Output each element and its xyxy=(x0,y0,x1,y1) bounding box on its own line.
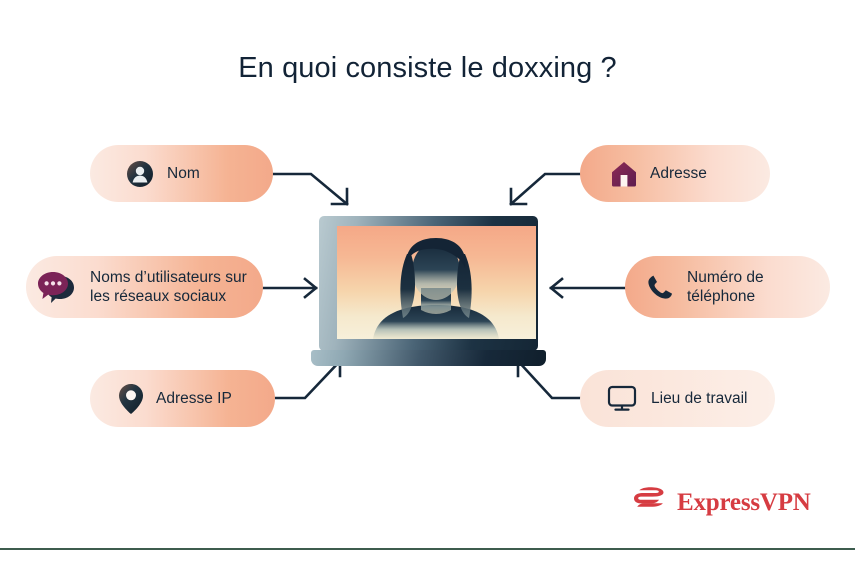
laptop-base xyxy=(311,350,546,366)
info-pill-label: Numéro de téléphone xyxy=(687,268,764,306)
arrow-usernames xyxy=(263,279,316,297)
arrow-work xyxy=(518,361,580,398)
arrow-ip xyxy=(276,361,340,398)
monitor-icon xyxy=(607,385,637,413)
infographic-canvas: En quoi consiste le doxxing ? xyxy=(0,0,855,561)
laptop-illustration xyxy=(311,216,546,366)
phone-icon xyxy=(645,272,675,302)
info-pill-adresse[interactable]: Adresse xyxy=(580,145,770,202)
arrow-adresse xyxy=(511,174,580,204)
expressvpn-logo: ExpressVPN xyxy=(634,484,811,521)
info-pill-usernames[interactable]: Noms d’utilisateurs sur les réseaux soci… xyxy=(26,256,263,318)
info-pill-label: Noms d’utilisateurs sur les réseaux soci… xyxy=(90,268,247,306)
arrow-nom xyxy=(274,174,347,204)
info-pill-label: Lieu de travail xyxy=(651,389,748,408)
arrow-phone xyxy=(551,279,625,297)
info-pill-phone[interactable]: Numéro de téléphone xyxy=(625,256,830,318)
info-pill-label: Nom xyxy=(167,164,200,183)
page-title: En quoi consiste le doxxing ? xyxy=(0,52,855,85)
person-silhouette-photo xyxy=(337,226,536,339)
info-pill-work[interactable]: Lieu de travail xyxy=(580,370,775,427)
house-icon xyxy=(610,160,638,188)
map-pin-icon xyxy=(118,383,144,415)
laptop-lid xyxy=(319,216,538,351)
laptop-screen xyxy=(337,226,536,339)
expressvpn-logo-text: ExpressVPN xyxy=(677,489,811,517)
chat-bubbles-icon xyxy=(38,270,80,304)
person-icon xyxy=(126,160,154,188)
expressvpn-logo-mark xyxy=(634,484,668,521)
info-pill-nom[interactable]: Nom xyxy=(90,145,273,202)
info-pill-ip[interactable]: Adresse IP xyxy=(90,370,275,427)
footer-divider xyxy=(0,548,855,550)
info-pill-label: Adresse IP xyxy=(156,389,232,408)
info-pill-label: Adresse xyxy=(650,164,707,183)
